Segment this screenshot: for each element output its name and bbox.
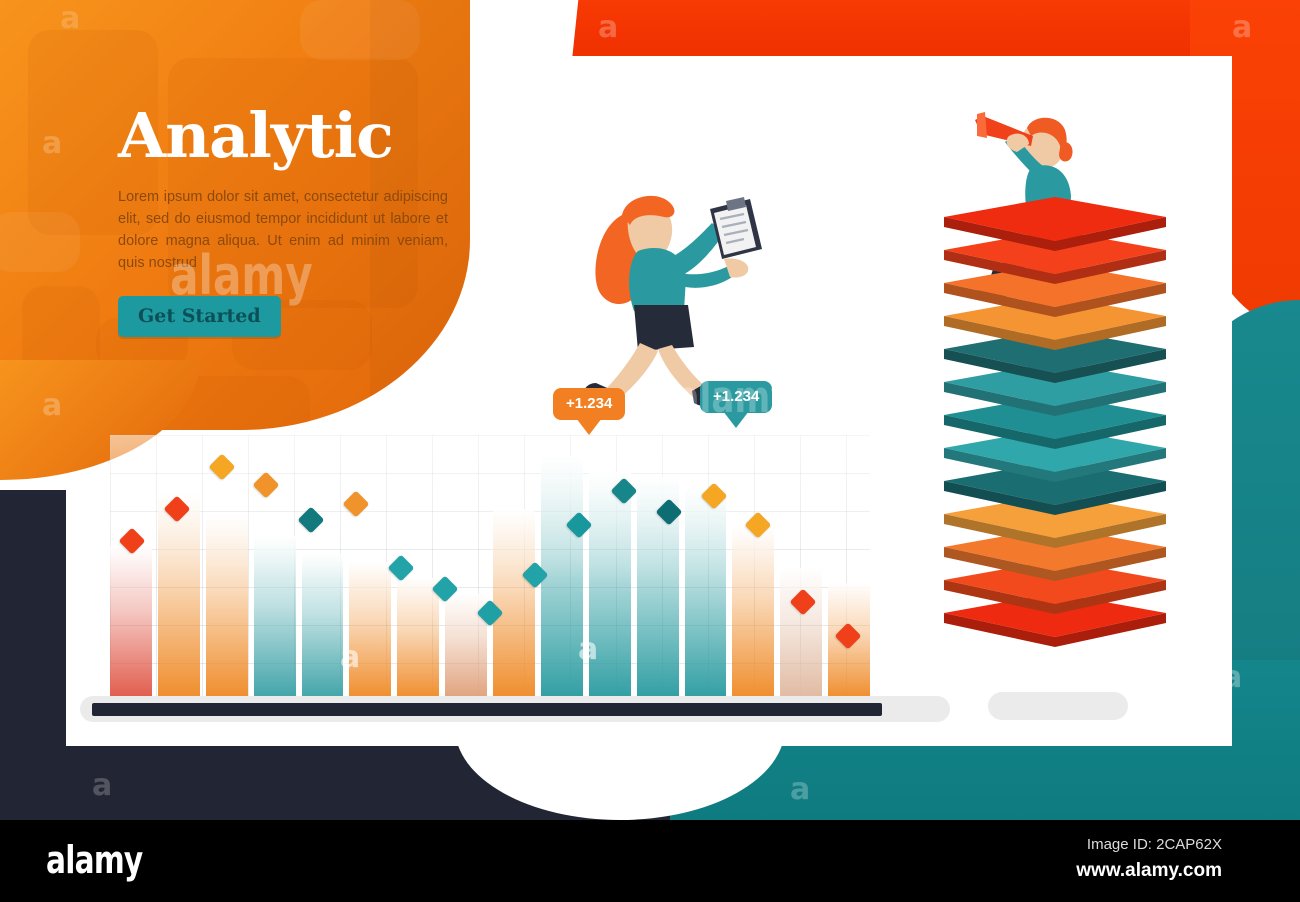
chart-marker-diamond	[164, 496, 191, 523]
chart-marker-diamond	[119, 528, 146, 555]
chart-diamond-markers	[110, 435, 870, 700]
isometric-data-layer-stack	[940, 195, 1180, 645]
chart-marker-diamond	[208, 453, 235, 480]
chart-marker-diamond	[700, 483, 727, 510]
chart-marker-diamond	[432, 575, 459, 602]
bar-chart	[110, 435, 870, 700]
chart-marker-diamond	[342, 490, 369, 517]
stack-base-shadow	[988, 692, 1128, 720]
chart-baseline	[92, 703, 882, 716]
chart-marker-diamond	[790, 589, 817, 616]
chart-marker-diamond	[834, 623, 861, 650]
alamy-footer: alamy Image ID: 2CAP62X www.alamy.com	[0, 820, 1300, 902]
chart-marker-diamond	[477, 599, 504, 626]
badge-orange-value: +1.234	[566, 395, 612, 412]
page-title: Analytic	[118, 104, 448, 168]
alamy-logo: alamy	[46, 838, 142, 882]
get-started-button[interactable]: Get Started	[118, 296, 281, 337]
badge-teal-value: +1.234	[713, 388, 759, 405]
badge-orange: +1.234	[553, 388, 625, 420]
chart-marker-diamond	[745, 512, 772, 539]
chart-marker-diamond	[611, 477, 638, 504]
badge-teal: +1.234	[700, 381, 772, 413]
chart-marker-diamond	[387, 554, 414, 581]
badge-teal-tail	[723, 411, 749, 428]
pattern-rect	[300, 0, 420, 60]
image-id-label: Image ID: 2CAP62X	[1087, 836, 1222, 853]
hero-copy: Analytic Lorem ipsum dolor sit amet, con…	[118, 104, 448, 337]
man-hair-bun	[1059, 142, 1073, 162]
chart-marker-diamond	[253, 472, 280, 499]
chart-marker-diamond	[521, 562, 548, 589]
chart-marker-diamond	[298, 506, 325, 533]
pattern-rect	[0, 212, 80, 272]
illustration-canvas: Analytic Lorem ipsum dolor sit amet, con…	[0, 0, 1300, 902]
chart-marker-diamond	[566, 512, 593, 539]
chart-marker-diamond	[655, 498, 682, 525]
alamy-url: www.alamy.com	[1076, 860, 1222, 882]
stack-layer	[940, 195, 1170, 257]
woman-skirt	[634, 305, 694, 351]
telescope-lens	[977, 112, 987, 138]
badge-orange-tail	[576, 418, 602, 435]
hero-paragraph: Lorem ipsum dolor sit amet, consectetur …	[118, 186, 448, 274]
